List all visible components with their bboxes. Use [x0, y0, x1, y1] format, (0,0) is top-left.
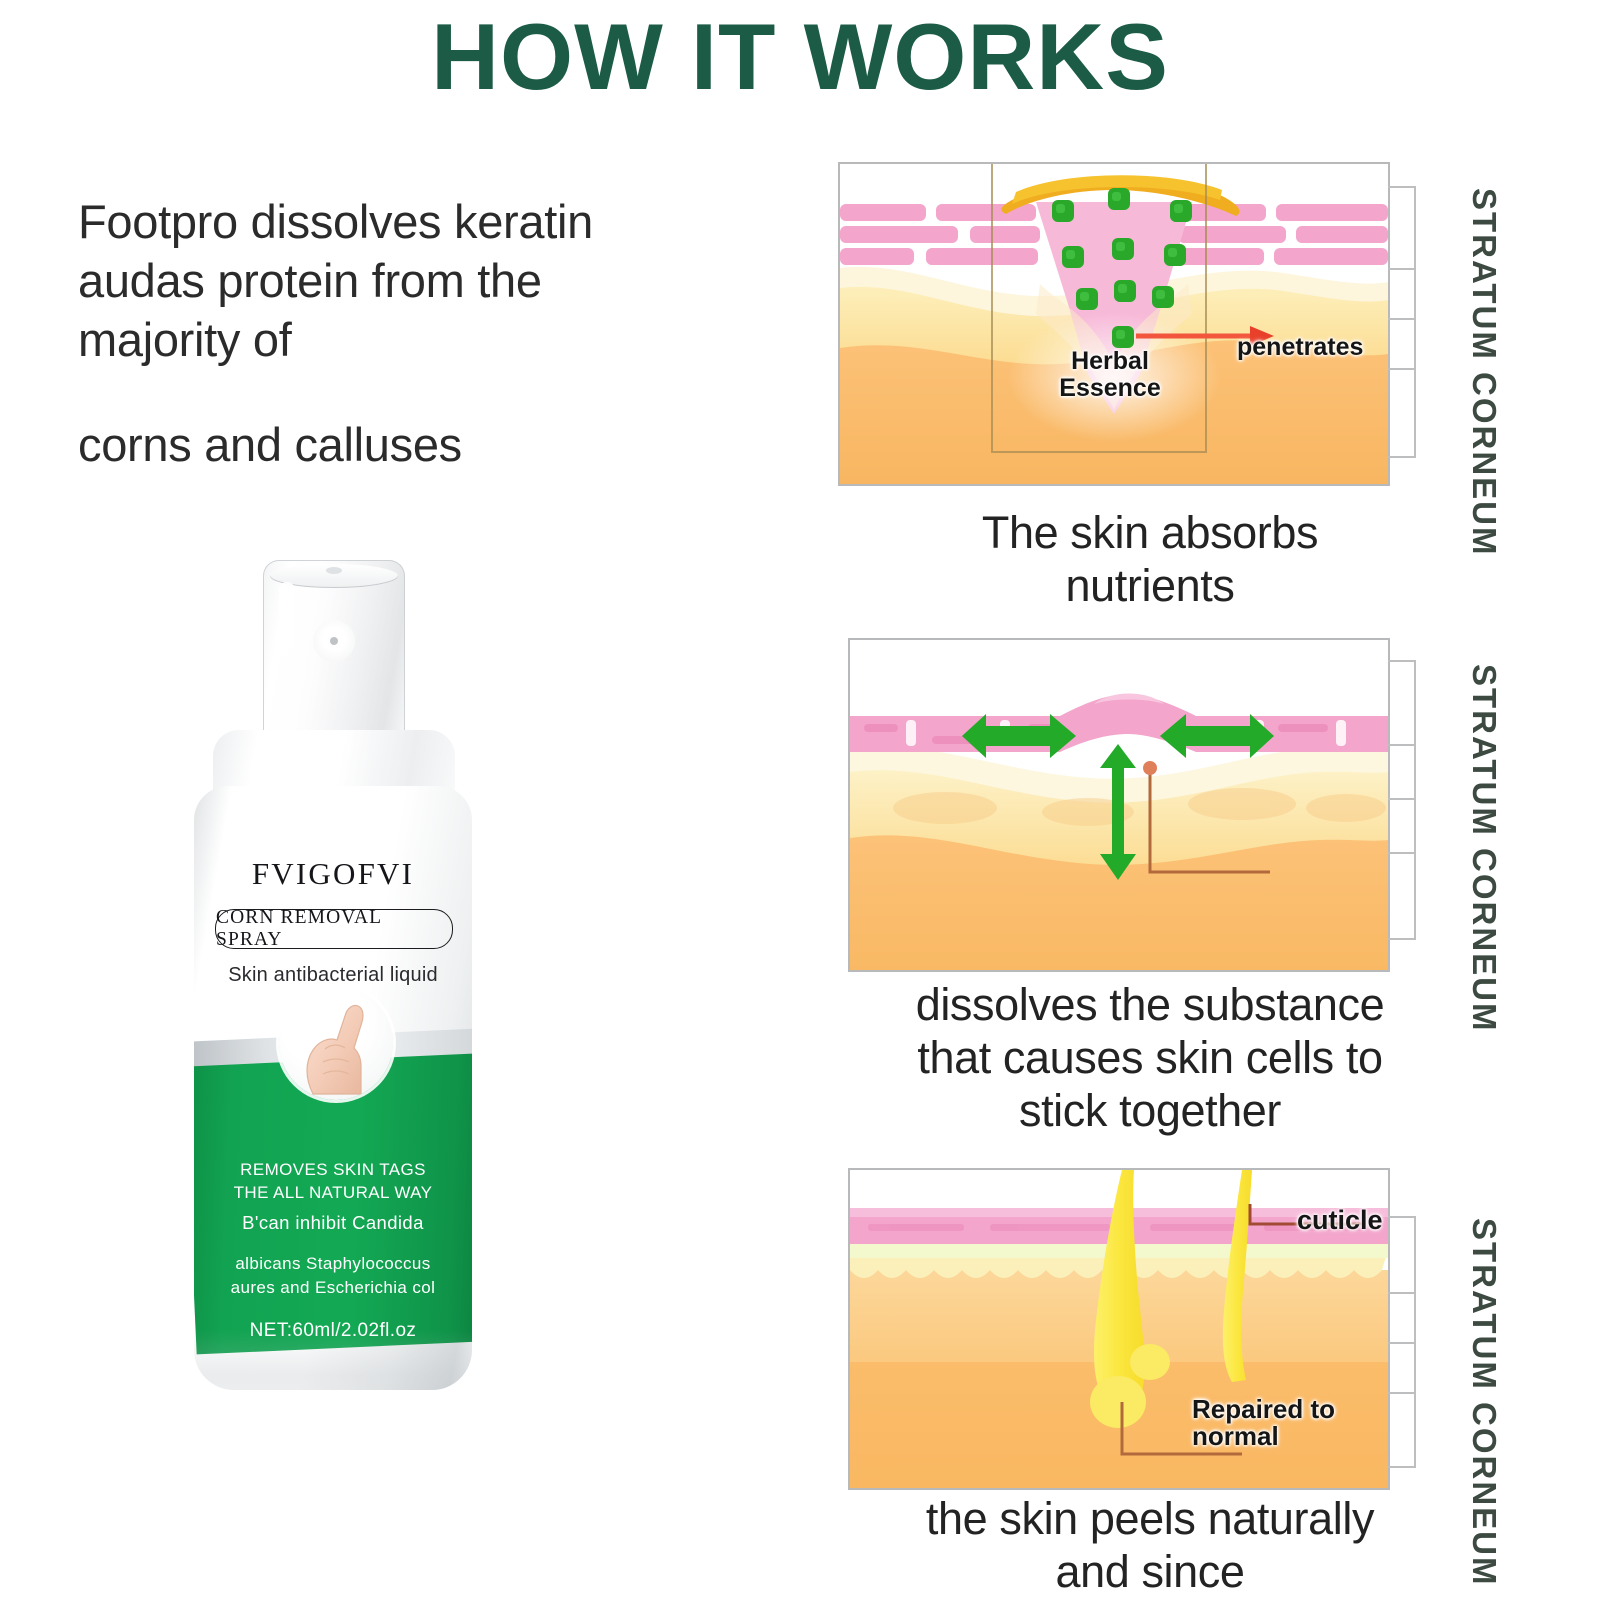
label-cuticle: cuticle: [1297, 1207, 1383, 1234]
stratum-line-3: STRATUM: [1466, 1218, 1503, 1391]
caption-dissolve-line-1: dissolves the substance: [840, 978, 1460, 1031]
spray-nozzle-icon: [313, 620, 355, 662]
intro-paragraph: Footpro dissolves keratin audas protein …: [78, 192, 768, 474]
repaired-line-2: normal: [1192, 1423, 1335, 1450]
corneum-line-2: CORNEUM: [1466, 848, 1503, 1033]
claim-block-2: albicans Staphylococcus aures and Escher…: [194, 1252, 472, 1300]
claim-line-5: aures and Escherichia col: [194, 1276, 472, 1300]
claim-line-2: THE ALL NATURAL WAY: [194, 1181, 472, 1204]
bottle-base-shading: [194, 1330, 472, 1390]
caption-peel-line-2: and since: [840, 1545, 1460, 1598]
caption-dissolve-line-2: that causes skin cells to: [840, 1031, 1460, 1084]
stratum-corneum-label-2: STRATUM CORNEUM: [1466, 664, 1502, 1033]
product-bottle: FVIGOFVI CORN REMOVAL SPRAY Skin antibac…: [183, 560, 483, 1390]
intro-line-2: audas protein from the: [78, 251, 768, 310]
herbal-essence-line-1: Herbal: [1035, 348, 1185, 375]
corneum-line-1: CORNEUM: [1466, 372, 1503, 557]
label-repaired-to-normal: Repaired to normal: [1192, 1396, 1335, 1450]
spray-cap: [263, 560, 405, 742]
intro-line-3: majority of: [78, 310, 768, 369]
intro-line-1: Footpro dissolves keratin: [78, 192, 768, 251]
claim-line-4: albicans Staphylococcus: [194, 1252, 472, 1276]
repaired-line-1: Repaired to: [1192, 1396, 1335, 1423]
cap-highlight: [279, 582, 295, 722]
caption-absorb-line-1: The skin absorbs: [840, 506, 1460, 559]
brand-name: FVIGOFVI: [194, 856, 472, 892]
caption-peel: the skin peels naturally and since: [840, 1492, 1460, 1598]
stratum-bracket-3: [1388, 1216, 1416, 1468]
page-title: HOW IT WORKS: [0, 8, 1600, 107]
claim-block-1: REMOVES SKIN TAGS THE ALL NATURAL WAY: [194, 1158, 472, 1204]
stratum-corneum-label-1: STRATUM CORNEUM: [1466, 188, 1502, 557]
product-subtitle: Skin antibacterial liquid: [194, 964, 472, 987]
caption-dissolve-line-3: stick together: [840, 1084, 1460, 1137]
product-type-badge: CORN REMOVAL SPRAY: [215, 909, 453, 949]
caption-absorb: The skin absorbs nutrients: [840, 506, 1460, 612]
caption-absorb-line-2: nutrients: [840, 559, 1460, 612]
product-type-label: CORN REMOVAL SPRAY: [216, 907, 452, 951]
intro-line-4: corns and calluses: [78, 415, 768, 474]
stratum-bracket-2: [1388, 660, 1416, 940]
cap-pinhole: [326, 567, 342, 574]
stratum-bracket-1: [1388, 186, 1416, 458]
stratum-line-1: STRATUM: [1466, 188, 1503, 361]
diagram-absorb-figure: [838, 162, 1390, 486]
claim-line-1: REMOVES SKIN TAGS: [194, 1158, 472, 1181]
corneum-line-3: CORNEUM: [1466, 1402, 1503, 1587]
stratum-line-2: STRATUM: [1466, 664, 1503, 837]
label-penetrates: penetrates: [1237, 334, 1363, 361]
herbal-essence-line-2: Essence: [1035, 375, 1185, 402]
label-herbal-essence: Herbal Essence: [1035, 348, 1185, 402]
stratum-corneum-label-3: STRATUM CORNEUM: [1466, 1218, 1502, 1587]
pointing-finger-icon: [279, 986, 393, 1100]
caption-dissolve: dissolves the substance that causes skin…: [840, 978, 1460, 1137]
claim-line-3: B'can inhibit Candida: [194, 1211, 472, 1234]
bottle-body: FVIGOFVI CORN REMOVAL SPRAY Skin antibac…: [194, 786, 472, 1390]
caption-peel-line-1: the skin peels naturally: [840, 1492, 1460, 1545]
diagram-dissolve-figure: [848, 638, 1390, 972]
